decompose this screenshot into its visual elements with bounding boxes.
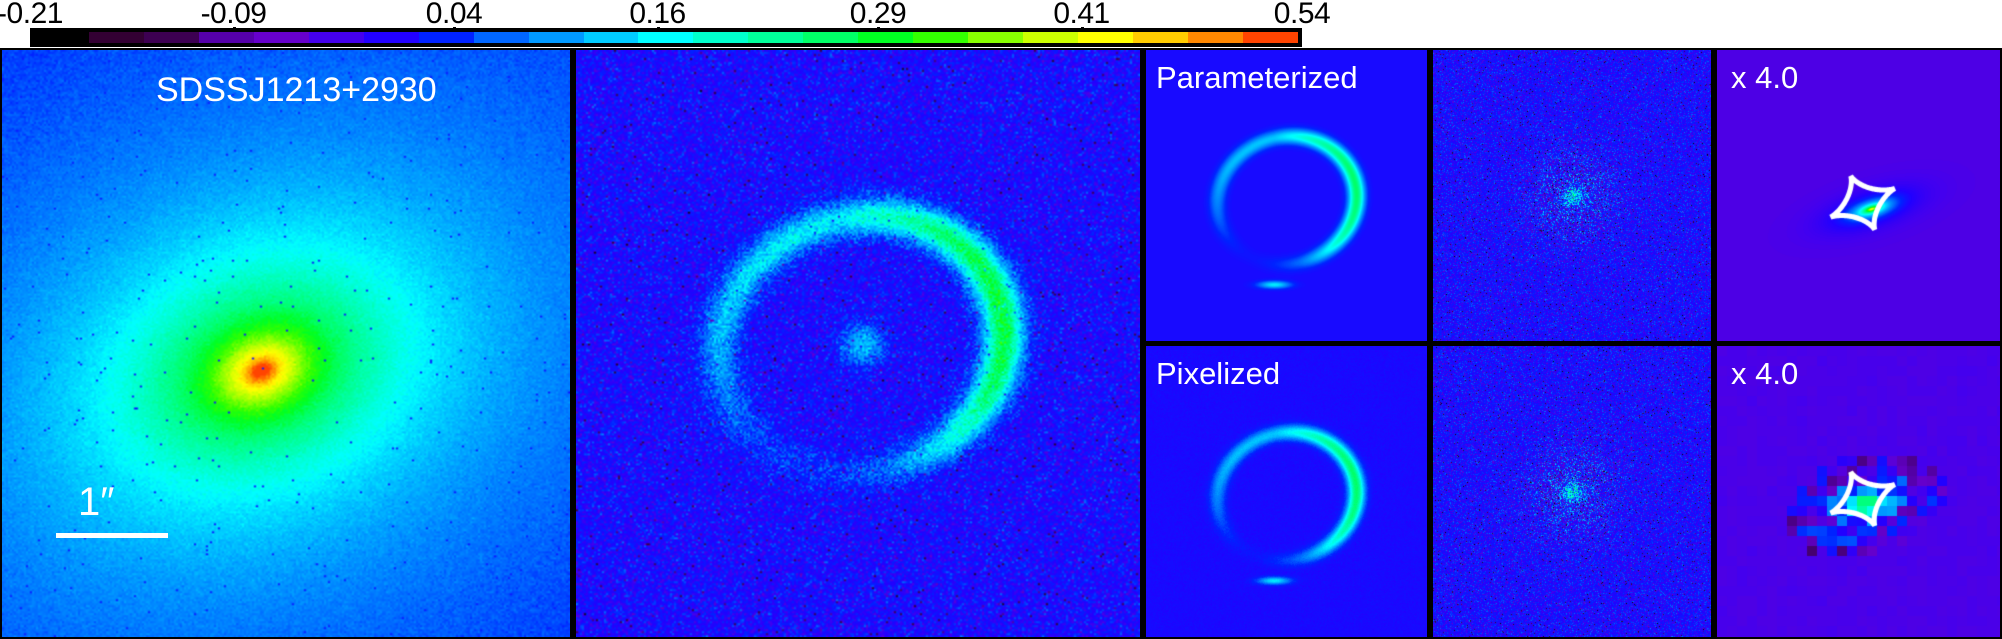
panel-pixelized-residuals[interactable]: [1433, 346, 1711, 637]
figure-root: -0.21-0.090.040.160.290.410.54 SDSSJ1213…: [0, 0, 2002, 639]
colorbar-tick-labels: -0.21-0.090.040.160.290.410.54: [0, 0, 2002, 28]
colorbar-swatch: [144, 32, 199, 43]
panel-parameterized-source[interactable]: x 4.0: [1717, 50, 2000, 341]
colorbar-swatch: [254, 32, 309, 43]
page-title: SDSSJ1213+2930: [156, 75, 437, 106]
scalebar-line: [56, 533, 168, 538]
panel-pixelized-source[interactable]: x 4.0: [1717, 346, 2000, 637]
panel-parameterized-residuals[interactable]: [1433, 50, 1711, 341]
lens-subtracted-heatmap: [576, 50, 1140, 637]
colorbar-swatch: [419, 32, 474, 43]
colorbar-swatch: [638, 32, 693, 43]
colorbar-tick-mark: [877, 27, 880, 32]
colorbar-swatch: [1243, 32, 1298, 43]
colorbar-swatch: [309, 32, 364, 43]
colorbar-swatch: [364, 32, 419, 43]
panel-lens-subtracted-image[interactable]: [576, 50, 1140, 637]
colorbar-swatch: [1188, 32, 1243, 43]
colorbar-tick-label: 0.54: [1274, 0, 1330, 31]
parameterized-residual-heatmap: [1433, 50, 1711, 341]
colorbar-swatch: [199, 32, 254, 43]
colorbar-swatch: [803, 32, 858, 43]
parameterized-source-zoom-label: x 4.0: [1731, 62, 1798, 93]
colorbar-swatch: [693, 32, 748, 43]
panel-grid: SDSSJ1213+2930 1″ Parameterized Pixelize…: [0, 48, 2002, 639]
colorbar-swatch: [529, 32, 584, 43]
colorbar-swatch: [1023, 32, 1078, 43]
lens-galaxy-heatmap: [2, 50, 570, 637]
colorbar-swatch: [584, 32, 639, 43]
colorbar: -0.21-0.090.040.160.290.410.54: [0, 0, 2002, 48]
colorbar-swatch: [748, 32, 803, 43]
colorbar-swatch: [474, 32, 529, 43]
colorbar-tick-mark: [1081, 27, 1084, 32]
pixelized-residual-heatmap: [1433, 346, 1711, 637]
pixelized-source-zoom-label: x 4.0: [1731, 358, 1798, 389]
scalebar-label: 1″: [78, 482, 114, 522]
colorbar-tick-mark: [233, 27, 236, 32]
panel-pixelized-model-image[interactable]: Pixelized: [1146, 346, 1427, 637]
colorbar-tick-mark: [453, 27, 456, 32]
panel-lens-galaxy-image[interactable]: SDSSJ1213+2930 1″: [2, 50, 570, 637]
colorbar-swatch: [968, 32, 1023, 43]
colorbar-tick-label: -0.21: [0, 0, 63, 31]
panel-parameterized-model-image[interactable]: Parameterized: [1146, 50, 1427, 341]
colorbar-swatch: [89, 32, 144, 43]
parameterized-model-label: Parameterized: [1156, 62, 1358, 93]
colorbar-tick-mark: [657, 27, 660, 32]
colorbar-swatch: [858, 32, 913, 43]
colorbar-swatch: [913, 32, 968, 43]
colorbar-swatch: [1133, 32, 1188, 43]
colorbar-swatch: [1078, 32, 1133, 43]
pixelized-model-label: Pixelized: [1156, 358, 1280, 389]
colorbar-swatch: [34, 32, 89, 43]
colorbar-gradient: [34, 32, 1298, 43]
colorbar-frame: [30, 28, 1302, 47]
